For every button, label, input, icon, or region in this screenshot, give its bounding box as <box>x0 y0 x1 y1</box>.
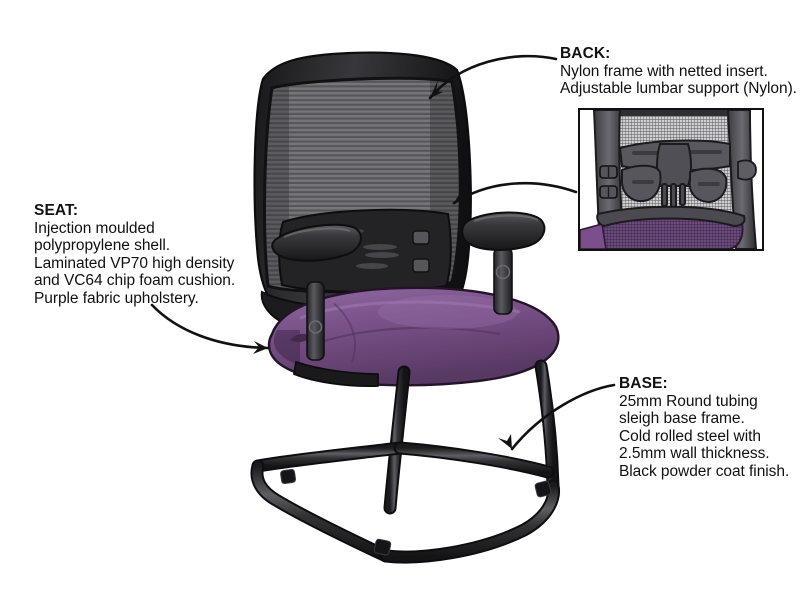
annotation-back-heading: BACK: <box>560 45 797 63</box>
lumbar-detail-inset <box>578 108 764 251</box>
lumbar-detail-drawing <box>580 110 762 249</box>
annotation-seat-line-3: Laminated VP70 high density <box>34 255 235 273</box>
annotation-seat-line-1: Injection moulded <box>34 220 235 238</box>
annotation-base-line-1: 25mm Round tubing <box>619 393 789 411</box>
annotation-seat: SEAT: Injection moulded polypropylene sh… <box>34 202 235 307</box>
arrow-back-line <box>430 56 556 98</box>
annotation-back-line-1: Nylon frame with netted insert. <box>560 63 797 81</box>
annotation-base-line-5: Black powder coat finish. <box>619 463 789 481</box>
annotation-seat-heading: SEAT: <box>34 202 235 220</box>
illustration-canvas: BACK: Nylon frame with netted insert. Ad… <box>0 0 800 597</box>
annotation-back: BACK: Nylon frame with netted insert. Ad… <box>560 45 797 98</box>
arrow-base-head <box>498 434 512 449</box>
annotation-back-line-2: Adjustable lumbar support (Nylon). <box>560 80 797 98</box>
annotation-base-line-2: sleigh base frame. <box>619 410 789 428</box>
arrow-base-line <box>512 385 614 449</box>
annotation-base: BASE: 25mm Round tubing sleigh base fram… <box>619 375 789 480</box>
arrow-lumbar-line <box>454 183 576 203</box>
arrow-seat-line <box>152 305 268 348</box>
annotation-base-heading: BASE: <box>619 375 789 393</box>
annotation-base-line-4: 2.5mm wall thickness. <box>619 445 789 463</box>
arrow-back-head <box>430 80 443 98</box>
annotation-seat-line-2: polypropylene shell. <box>34 237 235 255</box>
arrow-lumbar-head <box>454 186 468 203</box>
annotation-base-line-3: Cold rolled steel with <box>619 428 789 446</box>
annotation-seat-line-5: Purple fabric upholstery. <box>34 290 235 308</box>
annotation-seat-line-4: and VC64 chip foam cushion. <box>34 272 235 290</box>
